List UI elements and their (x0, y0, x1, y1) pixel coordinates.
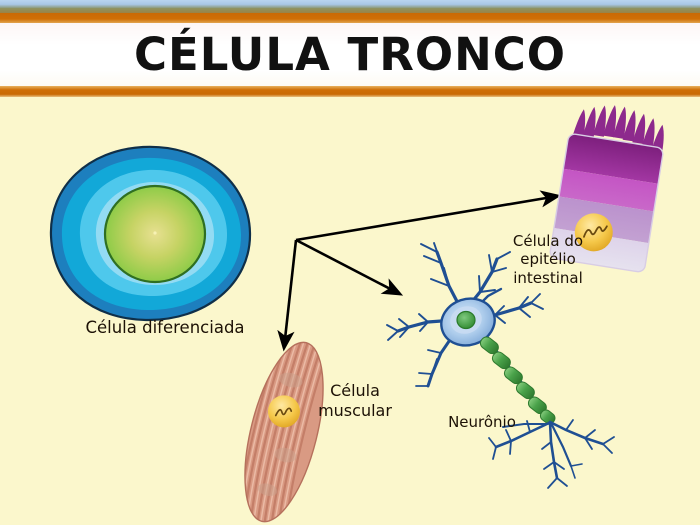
diagram-artwork (0, 0, 700, 525)
arrow-to-epithelial (296, 196, 558, 240)
stem-cell (51, 147, 250, 320)
neuron (387, 243, 614, 488)
myelin-sheath (478, 335, 557, 426)
neuron-nucleus (457, 312, 475, 329)
arrow-to-neuron (296, 240, 400, 294)
slide-canvas: CÉLULA TRONCO (0, 0, 700, 525)
epithelial-cell (549, 99, 669, 273)
axon-terminals (489, 420, 614, 488)
arrow-to-muscle (284, 240, 296, 348)
muscle-cell (228, 327, 340, 525)
